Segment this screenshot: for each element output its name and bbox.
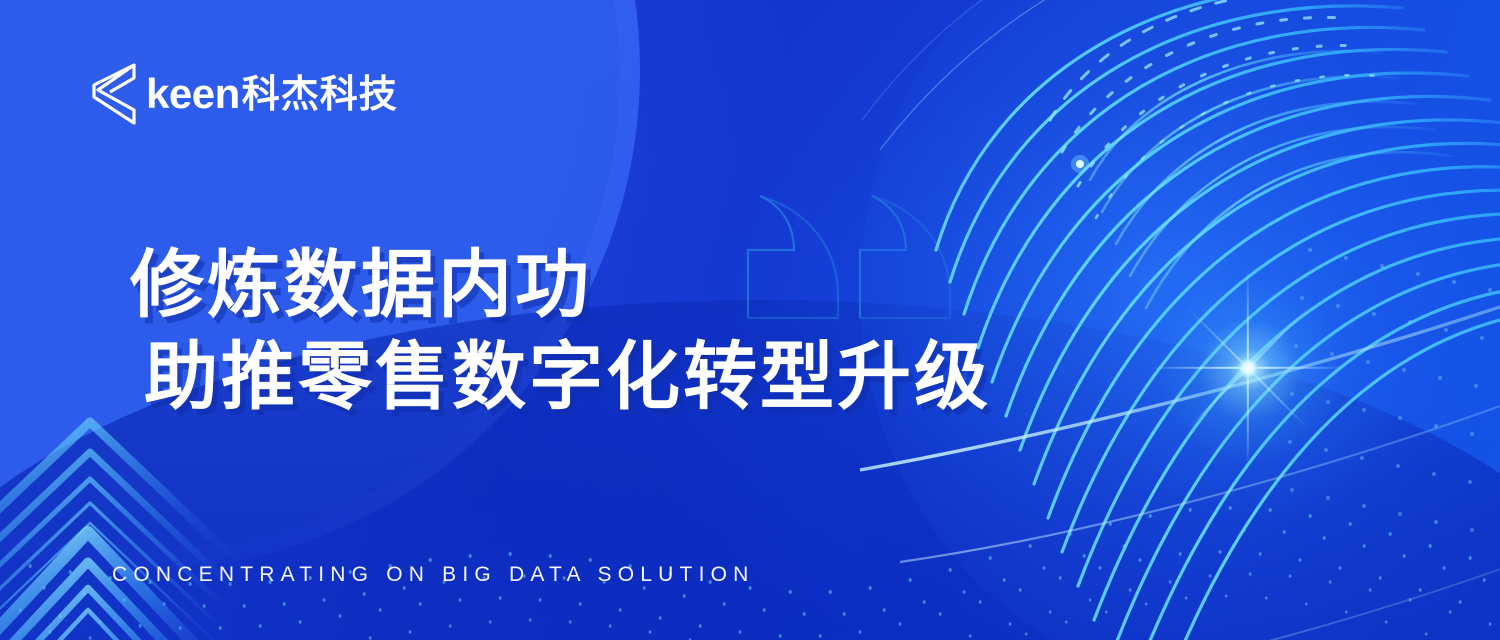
- logo-chinese-name: 科杰科技: [242, 75, 398, 113]
- tagline: CONCENTRATING ON BIG DATA SOLUTION: [112, 563, 755, 587]
- keen-chevron-logo-icon: [88, 62, 140, 126]
- headline-line-2: 助推零售数字化转型升级: [130, 332, 1030, 424]
- headline-line-1: 修炼数据内功: [130, 240, 1030, 332]
- logo-wordmark: keen: [146, 73, 240, 115]
- brand-logo[interactable]: keen 科杰科技: [88, 60, 398, 128]
- marketing-banner: keen 科杰科技 修炼数据内功 助推零售数字化转型升级 CONCENTRATI…: [0, 0, 1500, 640]
- headline: 修炼数据内功 助推零售数字化转型升级: [130, 240, 1030, 424]
